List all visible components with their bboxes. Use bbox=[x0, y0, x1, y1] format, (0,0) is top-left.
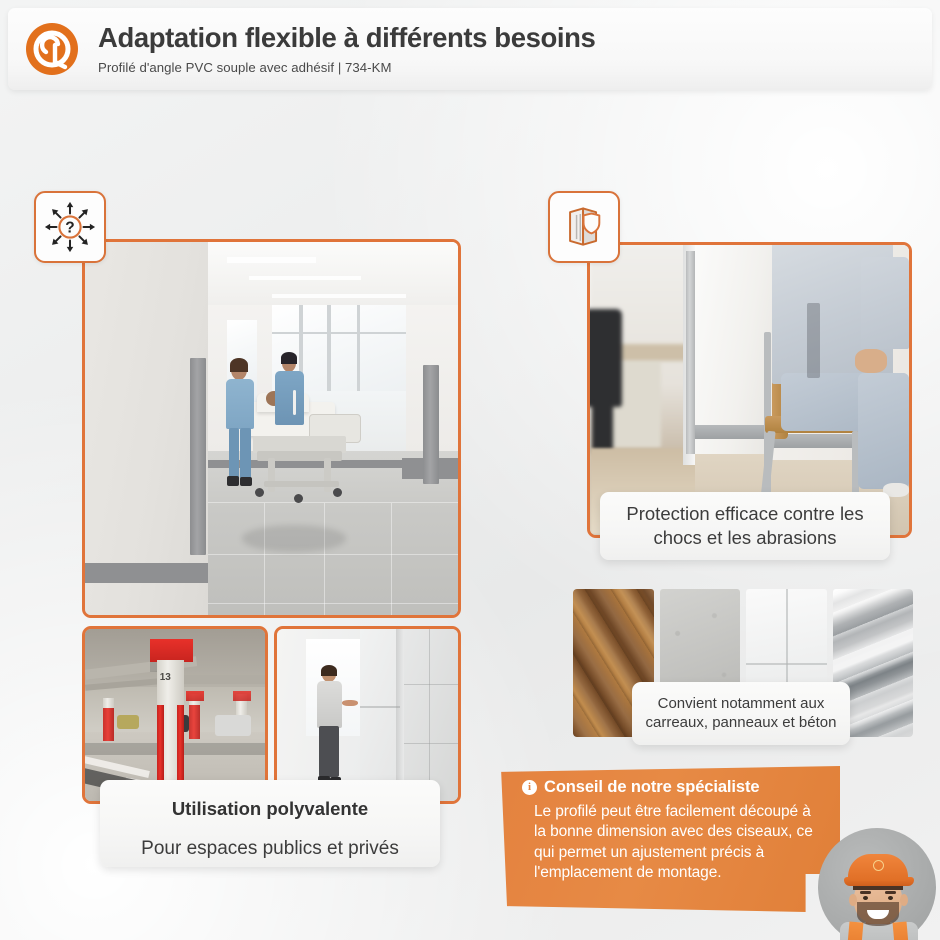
flexible-adaptation-badge: ? bbox=[34, 191, 106, 263]
hospital-corridor-image bbox=[82, 239, 461, 618]
specialist-avatar bbox=[818, 828, 940, 940]
header-text-group: Adaptation flexible à différents besoins… bbox=[98, 23, 595, 75]
materials-caption-card: Convient notamment aux carreaux, panneau… bbox=[632, 682, 850, 745]
protection-caption-card: Protection efficace contre les chocs et … bbox=[600, 492, 890, 560]
impact-protection-badge bbox=[548, 191, 620, 263]
tip-content: i Conseil de notre spécialiste Le profil… bbox=[522, 778, 820, 884]
column-number-label: 13 bbox=[160, 672, 171, 683]
header-bar: Adaptation flexible à différents besoins… bbox=[8, 8, 932, 90]
avatar-worker-figure bbox=[832, 850, 924, 940]
corner-profile-shield-icon bbox=[558, 201, 610, 253]
brand-logo bbox=[24, 21, 80, 77]
usage-caption-text: Pour espaces publics et privés bbox=[100, 820, 440, 860]
protection-caption-text: Protection efficace contre les chocs et … bbox=[612, 502, 878, 549]
question-mark-arrows-icon: ? bbox=[43, 200, 97, 254]
materials-caption-text: Convient notamment aux carreaux, panneau… bbox=[642, 695, 840, 733]
white-door-image bbox=[274, 626, 461, 804]
specialist-tip-banner: i Conseil de notre spécialiste Le profil… bbox=[496, 766, 840, 912]
svg-text:?: ? bbox=[65, 219, 74, 236]
parking-garage-image: 13 bbox=[82, 626, 268, 804]
cap-logo-icon bbox=[873, 860, 884, 871]
info-circle-icon: i bbox=[522, 780, 537, 795]
tip-body-text: Le profilé peut être facilement découpé … bbox=[534, 802, 820, 884]
usage-caption-title: Utilisation polyvalente bbox=[100, 787, 440, 820]
page-title: Adaptation flexible à différents besoins bbox=[98, 23, 595, 53]
page-subtitle: Profilé d'angle PVC souple avec adhésif … bbox=[98, 60, 595, 75]
usage-caption-card: Utilisation polyvalente Pour espaces pub… bbox=[100, 780, 440, 867]
infographic-canvas: Adaptation flexible à différents besoins… bbox=[0, 0, 940, 940]
tip-heading-text: Conseil de notre spécialiste bbox=[544, 778, 759, 797]
tip-heading-row: i Conseil de notre spécialiste bbox=[522, 778, 820, 797]
